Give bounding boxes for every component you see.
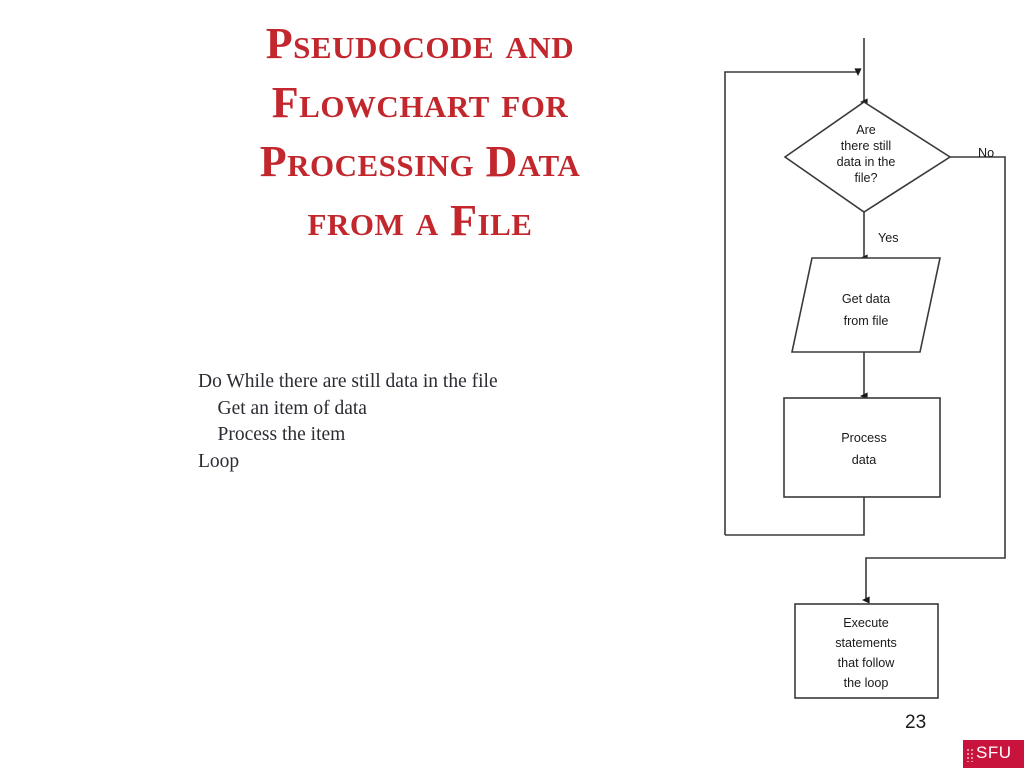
sfu-logo: SFU [963, 740, 1024, 768]
pseudocode-line-1: Do While there are still data in the fil… [198, 369, 498, 396]
page-title-line-4: from a File [120, 191, 720, 250]
process-label-line-2: data [852, 453, 877, 467]
page-title: Pseudocode and Flowchart for Processing … [120, 14, 720, 250]
decision-label-line-2: there still [841, 139, 891, 153]
process-rectangle [784, 398, 940, 497]
connector-no [866, 157, 1005, 600]
exit-label-line-1: Execute [843, 616, 889, 630]
page-title-line-3: Processing Data [120, 132, 720, 191]
decision-label-line-3: data in the [837, 155, 896, 169]
sfu-logo-text: SFU [976, 743, 1012, 763]
decision-label-line-1: Are [856, 123, 876, 137]
branch-label-yes: Yes [878, 231, 899, 245]
io-label-line-2: from file [844, 314, 889, 328]
exit-label-line-3: that follow [838, 656, 896, 670]
connector-process-to-loop [725, 497, 864, 535]
page-title-line-2: Flowchart for [120, 73, 720, 132]
sfu-dots-icon [966, 748, 974, 762]
slide-canvas: Pseudocode and Flowchart for Processing … [0, 0, 1024, 768]
exit-label-line-2: statements [835, 636, 897, 650]
decision-label-line-4: file? [854, 171, 877, 185]
io-label-line-1: Get data [842, 292, 890, 306]
process-label-line-1: Process [841, 431, 887, 445]
exit-label-line-4: the loop [844, 676, 889, 690]
pseudocode-line-4: Loop [198, 449, 498, 476]
pseudocode-block: Do While there are still data in the fil… [198, 369, 498, 475]
branch-label-no: No [978, 146, 994, 160]
page-title-line-1: Pseudocode and [120, 14, 720, 73]
pseudocode-line-2: Get an item of data [198, 396, 498, 423]
page-number: 23 [905, 712, 926, 734]
flowchart-diagram: Are there still data in the file? No Yes… [690, 0, 1024, 712]
pseudocode-line-3: Process the item [198, 422, 498, 449]
